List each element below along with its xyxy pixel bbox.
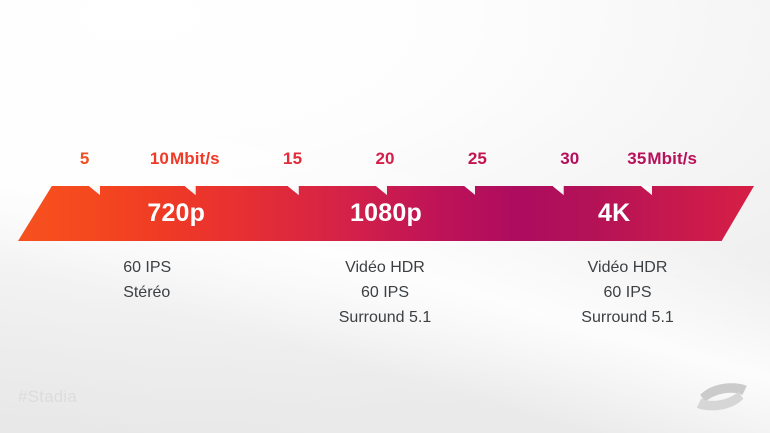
band-segment-label: 1080p <box>350 186 422 241</box>
axis-tick-value: 35 <box>627 149 646 168</box>
segment-feature-line: Surround 5.1 <box>581 305 674 330</box>
axis-tick-label: 10Mbit/s <box>150 148 220 170</box>
axis-tick-value: 30 <box>560 149 579 168</box>
segment-feature-line: Vidéo HDR <box>339 255 432 280</box>
band-segment-label: 720p <box>147 186 205 241</box>
axis-tick-value: 25 <box>468 149 487 168</box>
bandwidth-band: 720p1080p4K <box>18 186 754 241</box>
slide-canvas: 510Mbit/s1520253035Mbit/s 720p1080p4K 60… <box>0 0 770 433</box>
segment-feature-line: 60 IPS <box>581 280 674 305</box>
axis-tick-value: 15 <box>283 149 302 168</box>
axis-tick-label: 30 <box>560 148 579 170</box>
axis-tick-label: 35Mbit/s <box>627 148 697 170</box>
bandwidth-axis: 510Mbit/s1520253035Mbit/s <box>0 148 770 178</box>
axis-tick-unit: Mbit/s <box>170 149 220 168</box>
axis-tick-label: 20 <box>375 148 394 170</box>
segment-feature-line: Surround 5.1 <box>339 305 432 330</box>
segment-feature-column: 60 IPSStéréo <box>123 255 171 305</box>
band-segment-label: 4K <box>598 186 630 241</box>
axis-tick-value: 5 <box>80 149 90 168</box>
axis-tick-label: 25 <box>468 148 487 170</box>
segment-feature-column: Vidéo HDR60 IPSSurround 5.1 <box>581 255 674 330</box>
segment-feature-column: Vidéo HDR60 IPSSurround 5.1 <box>339 255 432 330</box>
segment-feature-line: Vidéo HDR <box>581 255 674 280</box>
segment-feature-line: 60 IPS <box>123 255 171 280</box>
stadia-logo-icon <box>694 377 750 417</box>
axis-tick-value: 20 <box>375 149 394 168</box>
segment-features: 60 IPSStéréoVidéo HDR60 IPSSurround 5.1V… <box>0 255 770 345</box>
segment-feature-line: Stéréo <box>123 280 171 305</box>
axis-tick-unit: Mbit/s <box>647 149 697 168</box>
segment-feature-line: 60 IPS <box>339 280 432 305</box>
stadia-hashtag-watermark: #Stadia <box>18 387 77 407</box>
axis-tick-label: 5 <box>80 148 90 170</box>
axis-tick-label: 15 <box>283 148 302 170</box>
axis-tick-value: 10 <box>150 149 169 168</box>
